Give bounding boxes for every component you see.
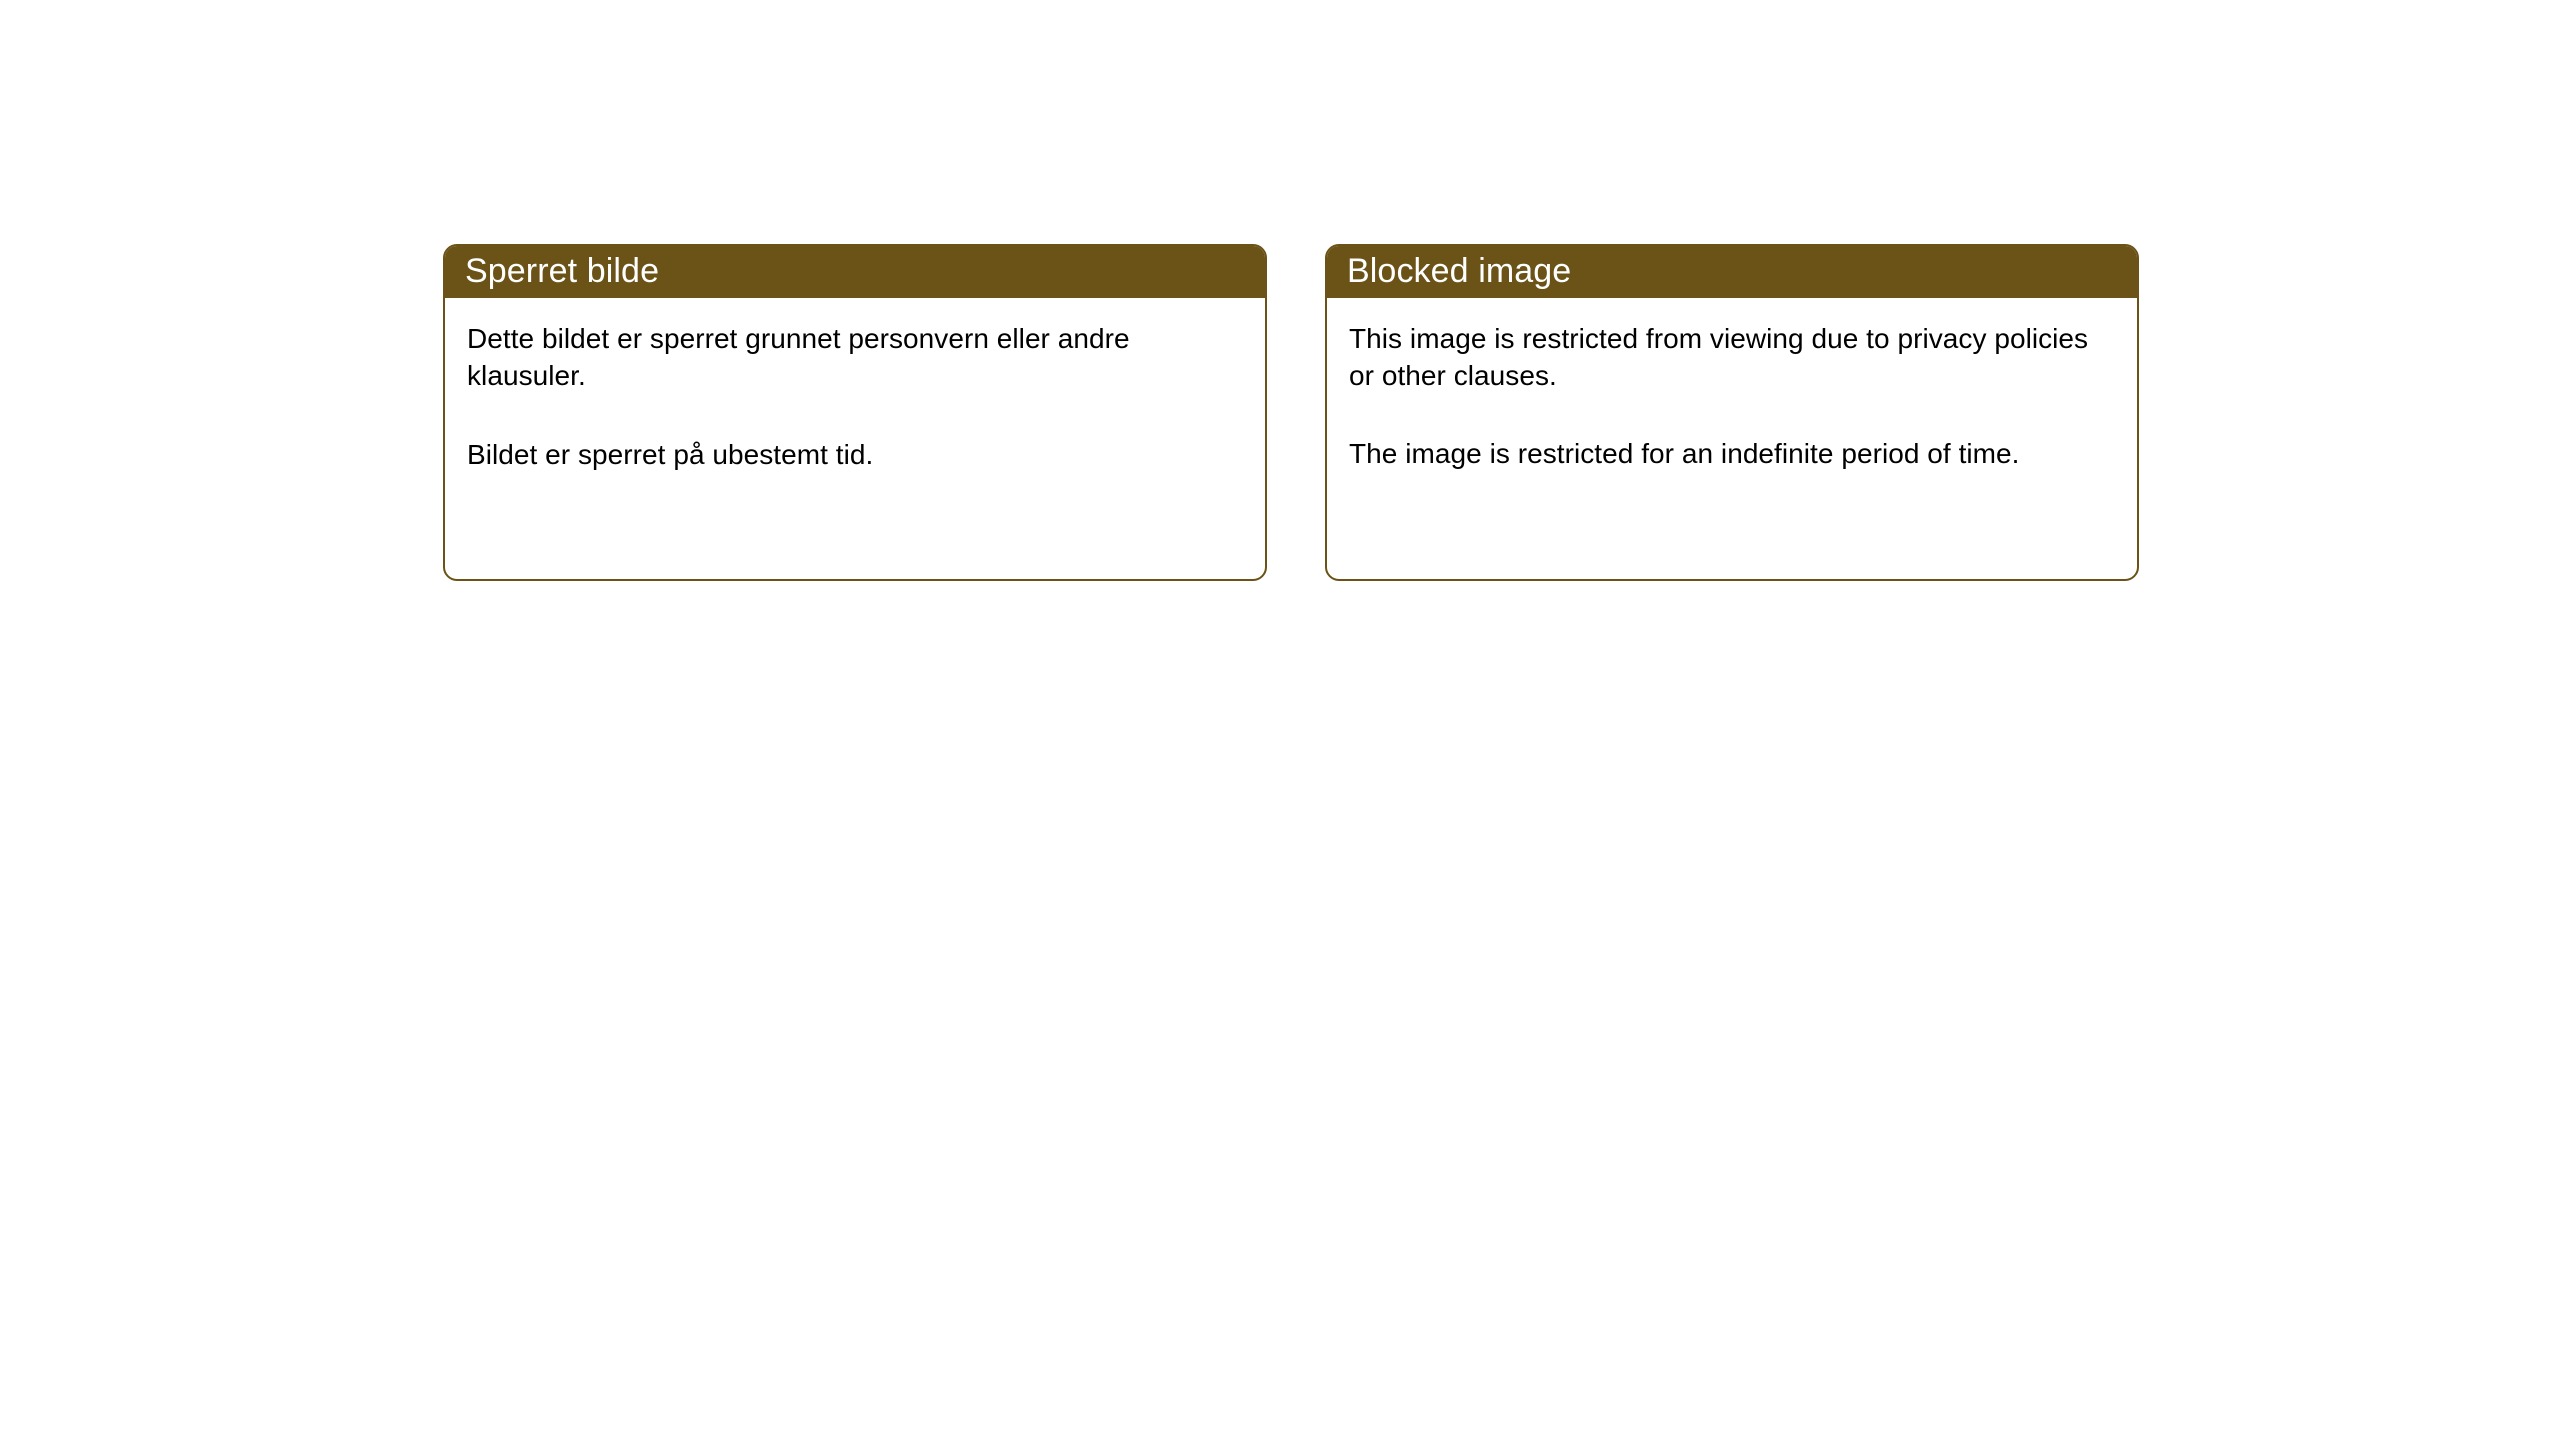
page-canvas: Sperret bilde Dette bildet er sperret gr… xyxy=(0,0,2560,1440)
card-header-english: Blocked image xyxy=(1325,244,2139,298)
card-paragraph-privacy-english: This image is restricted from viewing du… xyxy=(1349,320,2113,394)
card-title-norwegian: Sperret bilde xyxy=(465,254,659,288)
card-body-english: This image is restricted from viewing du… xyxy=(1327,298,2137,579)
card-body-norwegian: Dette bildet er sperret grunnet personve… xyxy=(445,298,1265,579)
card-paragraph-duration-english: The image is restricted for an indefinit… xyxy=(1349,435,2113,472)
notice-card-group: Sperret bilde Dette bildet er sperret gr… xyxy=(443,244,2139,581)
blocked-image-notice-card-english: Blocked image This image is restricted f… xyxy=(1325,244,2139,581)
card-paragraph-duration-norwegian: Bildet er sperret på ubestemt tid. xyxy=(467,436,1241,473)
card-paragraph-privacy-norwegian: Dette bildet er sperret grunnet personve… xyxy=(467,320,1241,394)
blocked-image-notice-card-norwegian: Sperret bilde Dette bildet er sperret gr… xyxy=(443,244,1267,581)
card-title-english: Blocked image xyxy=(1347,254,1571,288)
card-header-norwegian: Sperret bilde xyxy=(443,244,1267,298)
